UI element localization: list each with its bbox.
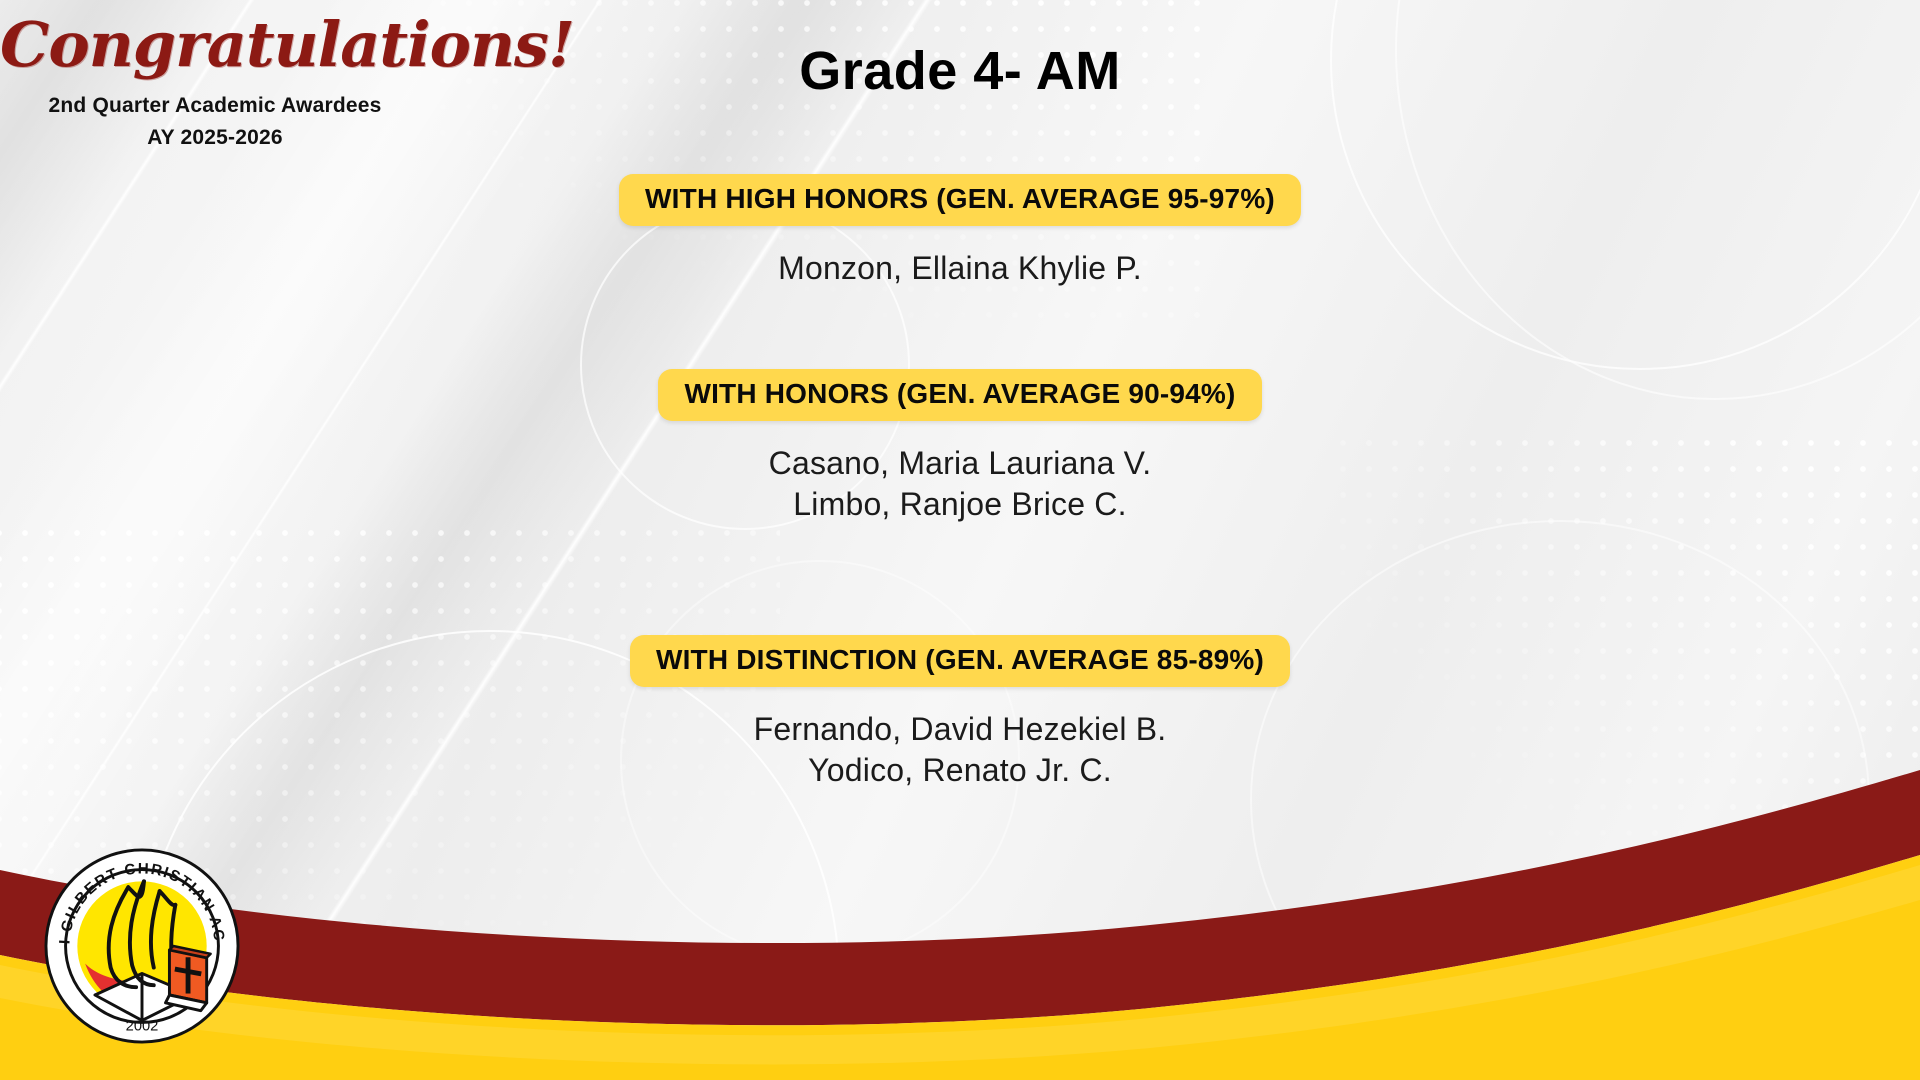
school-logo: ANGELI GILBERT CHRISTIAN ACADEMY 2002 — [44, 848, 240, 1044]
awardee-list: Casano, Maria Lauriana V. Limbo, Ranjoe … — [360, 443, 1560, 525]
award-section-distinction: WITH DISTINCTION (GEN. AVERAGE 85-89%) F… — [360, 635, 1560, 791]
logo-year-text: 2002 — [126, 1018, 159, 1034]
status-badge: WITH HONORS (GEN. AVERAGE 90-94%) — [658, 369, 1261, 421]
status-badge: WITH DISTINCTION (GEN. AVERAGE 85-89%) — [630, 635, 1290, 687]
logo-bible — [166, 946, 211, 1011]
list-item: Fernando, David Hezekiel B. — [360, 709, 1560, 750]
awardee-list: Fernando, David Hezekiel B. Yodico, Rena… — [360, 709, 1560, 791]
footer-wave — [0, 750, 1920, 1080]
page-title: Grade 4- AM — [360, 40, 1560, 102]
award-section-high-honors: WITH HIGH HONORS (GEN. AVERAGE 95-97%) M… — [360, 174, 1560, 289]
award-section-honors: WITH HONORS (GEN. AVERAGE 90-94%) Casano… — [360, 369, 1560, 525]
status-badge: WITH HIGH HONORS (GEN. AVERAGE 95-97%) — [619, 174, 1301, 226]
list-item: Monzon, Ellaina Khylie P. — [360, 248, 1560, 289]
main-content: Grade 4- AM WITH HIGH HONORS (GEN. AVERA… — [360, 30, 1560, 791]
list-item: Yodico, Renato Jr. C. — [360, 750, 1560, 791]
list-item: Casano, Maria Lauriana V. — [360, 443, 1560, 484]
awardee-list: Monzon, Ellaina Khylie P. — [360, 248, 1560, 289]
list-item: Limbo, Ranjoe Brice C. — [360, 484, 1560, 525]
